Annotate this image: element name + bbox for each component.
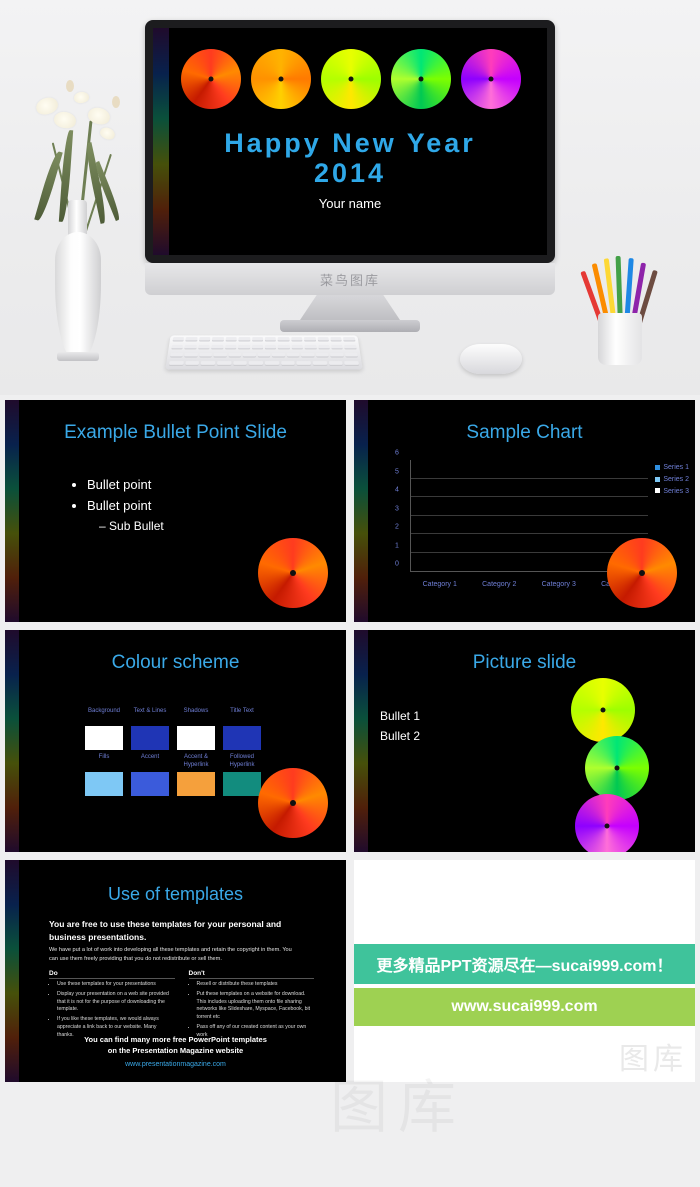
vase-foot xyxy=(57,352,99,361)
keyboard-row xyxy=(168,343,360,351)
list-item: Bullet 2 xyxy=(380,726,420,746)
swatch-colour xyxy=(131,726,169,750)
monitor-chin: 菜鸟图库 xyxy=(145,263,555,295)
page-root: Happy New Year 2014 Your name 菜鸟图库 xyxy=(0,0,700,1187)
slide-title: Use of templates xyxy=(5,884,346,905)
swatch-colour xyxy=(223,772,261,796)
slide-promo[interactable]: 更多精品PPT资源尽在—sucai999.com！ www.sucai999.c… xyxy=(354,860,695,1082)
keyboard-row xyxy=(169,335,358,343)
pinwheel-flower-red xyxy=(607,538,677,608)
pinwheel-flower-orange xyxy=(251,49,311,109)
slide-use-of-templates[interactable]: Use of templates You are free to use the… xyxy=(5,860,346,1082)
pinwheel-flower-red xyxy=(181,49,241,109)
flower-row xyxy=(181,44,521,114)
templates-footer-line1: You can find many more free PowerPoint t… xyxy=(45,1034,306,1045)
slide-colour-scheme[interactable]: Colour scheme Background Text & Lines Sh… xyxy=(5,630,346,852)
templates-do-list: Use these templates for your presentatio… xyxy=(49,981,175,1040)
slide-title: Picture slide xyxy=(354,652,695,674)
templates-do-heading: Do xyxy=(49,970,175,979)
swatch-colour xyxy=(85,726,123,750)
slide-grid: Example Bullet Point Slide Bullet point … xyxy=(5,400,695,1090)
swatch-background: Background xyxy=(85,708,123,750)
swatch-label: Fills xyxy=(85,754,123,772)
swatch-row: Fills Accent Accent & Hyperlink Fol xyxy=(85,754,260,796)
swatch-label: Accent & Hyperlink xyxy=(177,754,215,772)
keyboard-row xyxy=(165,368,362,370)
x-tick-category-2: Category 2 xyxy=(470,581,530,588)
swatch-colour xyxy=(177,726,215,750)
swatch-followed-hyperlink: Followed Hyperlink xyxy=(223,754,261,796)
swatch-label: Background xyxy=(85,708,123,726)
pinwheel-flower-green xyxy=(585,736,649,800)
list-item: Bullet 1 xyxy=(380,706,420,726)
legend-label: Series 1 xyxy=(663,464,689,471)
swatch-colour xyxy=(131,772,169,796)
flower-stack xyxy=(571,678,659,852)
swatch-fills: Fills xyxy=(85,754,123,796)
swatch-label: Text & Lines xyxy=(131,708,169,726)
list-item: Use these templates for your presentatio… xyxy=(57,981,175,989)
swatch-accent: Accent xyxy=(131,754,169,796)
swatch-accent-hyperlink: Accent & Hyperlink xyxy=(177,754,215,796)
x-tick-category-1: Category 1 xyxy=(410,581,470,588)
swatch-label: Shadows xyxy=(177,708,215,726)
y-tick-5: 5 xyxy=(395,468,399,475)
list-item: Bullet point xyxy=(87,475,164,496)
swatch-colour xyxy=(85,772,123,796)
hero-title-line2: 2014 xyxy=(153,158,547,188)
slide-row: Use of templates You are free to use the… xyxy=(5,860,695,1082)
templates-footer: You can find many more free PowerPoint t… xyxy=(45,1034,306,1057)
pinwheel-flower-red xyxy=(258,538,328,608)
swatch-label: Title Text xyxy=(223,708,261,726)
swatch-colour xyxy=(223,726,261,750)
y-tick-2: 2 xyxy=(395,524,399,531)
list-item-sub: Sub Bullet xyxy=(99,517,164,536)
bullet-list: Bullet point Bullet point Sub Bullet xyxy=(33,475,164,536)
monitor-screen: Happy New Year 2014 Your name xyxy=(153,28,547,255)
slide-picture[interactable]: Picture slide Bullet 1 Bullet 2 xyxy=(354,630,695,852)
promo-band-lime: www.sucai999.com xyxy=(354,988,695,1026)
y-tick-6: 6 xyxy=(395,450,399,457)
templates-dont-list: Resell or distribute these templates Put… xyxy=(189,981,315,1040)
y-tick-4: 4 xyxy=(395,487,399,494)
pinwheel-flower-yellow xyxy=(571,678,635,742)
keyboard-row xyxy=(166,359,363,367)
swatch-text-and-lines: Text & Lines xyxy=(131,708,169,750)
x-tick-category-3: Category 3 xyxy=(529,581,589,588)
slide-title: Example Bullet Point Slide xyxy=(5,422,346,444)
templates-lead: You are free to use these templates for … xyxy=(49,918,302,944)
templates-do-column: Do Use these templates for your presenta… xyxy=(49,970,175,1042)
y-tick-0: 0 xyxy=(395,561,399,568)
colour-swatch-grid: Background Text & Lines Shadows Tit xyxy=(85,708,260,800)
templates-dont-column: Don't Resell or distribute these templat… xyxy=(189,970,315,1042)
bud xyxy=(112,96,120,108)
pinwheel-flower-pink xyxy=(575,794,639,852)
pencil-cup xyxy=(598,313,642,365)
list-item: Bullet point xyxy=(87,496,164,517)
slide-row: Example Bullet Point Slide Bullet point … xyxy=(5,400,695,622)
bud xyxy=(66,80,74,92)
slide-row: Colour scheme Background Text & Lines Sh… xyxy=(5,630,695,852)
legend-label: Series 3 xyxy=(663,488,689,495)
promo-band-green: 更多精品PPT资源尽在—sucai999.com！ xyxy=(354,944,695,984)
legend-item-series-3: Series 3 xyxy=(655,486,689,498)
slide-sample-chart[interactable]: Sample Chart 0 1 2 3 4 5 6 xyxy=(354,400,695,622)
slide-bullet-points[interactable]: Example Bullet Point Slide Bullet point … xyxy=(5,400,346,622)
templates-website-link[interactable]: www.presentationmagazine.com xyxy=(5,1061,346,1068)
hero-title-line1: Happy New Year xyxy=(153,128,547,158)
legend-item-series-2: Series 2 xyxy=(655,474,689,486)
monitor-stand-foot xyxy=(280,320,420,332)
slide-title: Colour scheme xyxy=(5,652,346,674)
legend-item-series-1: Series 1 xyxy=(655,462,689,474)
list-item: Resell or distribute these templates xyxy=(197,981,315,989)
templates-dont-heading: Don't xyxy=(189,970,315,979)
swatch-shadows: Shadows xyxy=(177,708,215,750)
pinwheel-flower-pink xyxy=(461,49,521,109)
templates-columns: Do Use these templates for your presenta… xyxy=(49,970,314,1042)
templates-paragraph: We have put a lot of work into developin… xyxy=(49,946,302,963)
swatch-row: Background Text & Lines Shadows Tit xyxy=(85,708,260,750)
monitor-bezel: Happy New Year 2014 Your name xyxy=(145,20,555,263)
hero-slide: Happy New Year 2014 Your name xyxy=(153,28,547,255)
brand-watermark: 菜鸟图库 xyxy=(320,270,380,289)
list-item: Put these templates on a website for dow… xyxy=(197,991,315,1022)
keyboard xyxy=(165,335,362,369)
swatch-label: Followed Hyperlink xyxy=(223,754,261,772)
swatch-colour xyxy=(177,772,215,796)
pinwheel-flower-green xyxy=(391,49,451,109)
chart-legend: Series 1 Series 2 Series 3 xyxy=(655,462,689,498)
hero-title: Happy New Year 2014 xyxy=(153,128,547,188)
mouse xyxy=(460,344,522,374)
legend-label: Series 2 xyxy=(663,476,689,483)
picture-bullet-list: Bullet 1 Bullet 2 xyxy=(380,706,420,747)
y-tick-3: 3 xyxy=(395,505,399,512)
swatch-label: Accent xyxy=(131,754,169,772)
keyboard-row xyxy=(167,351,361,359)
vase xyxy=(55,232,101,360)
templates-footer-line2: on the Presentation Magazine website xyxy=(45,1045,306,1056)
list-item: Display your presentation on a web site … xyxy=(57,991,175,1014)
slide-title: Sample Chart xyxy=(354,422,695,444)
hero-subtitle: Your name xyxy=(153,196,547,211)
promo-watermark: 图库 xyxy=(619,1034,687,1078)
pinwheel-flower-red xyxy=(258,768,328,838)
y-tick-1: 1 xyxy=(395,542,399,549)
swatch-title-text: Title Text xyxy=(223,708,261,750)
pinwheel-flower-yellow xyxy=(321,49,381,109)
hero-section: Happy New Year 2014 Your name 菜鸟图库 xyxy=(0,0,700,395)
